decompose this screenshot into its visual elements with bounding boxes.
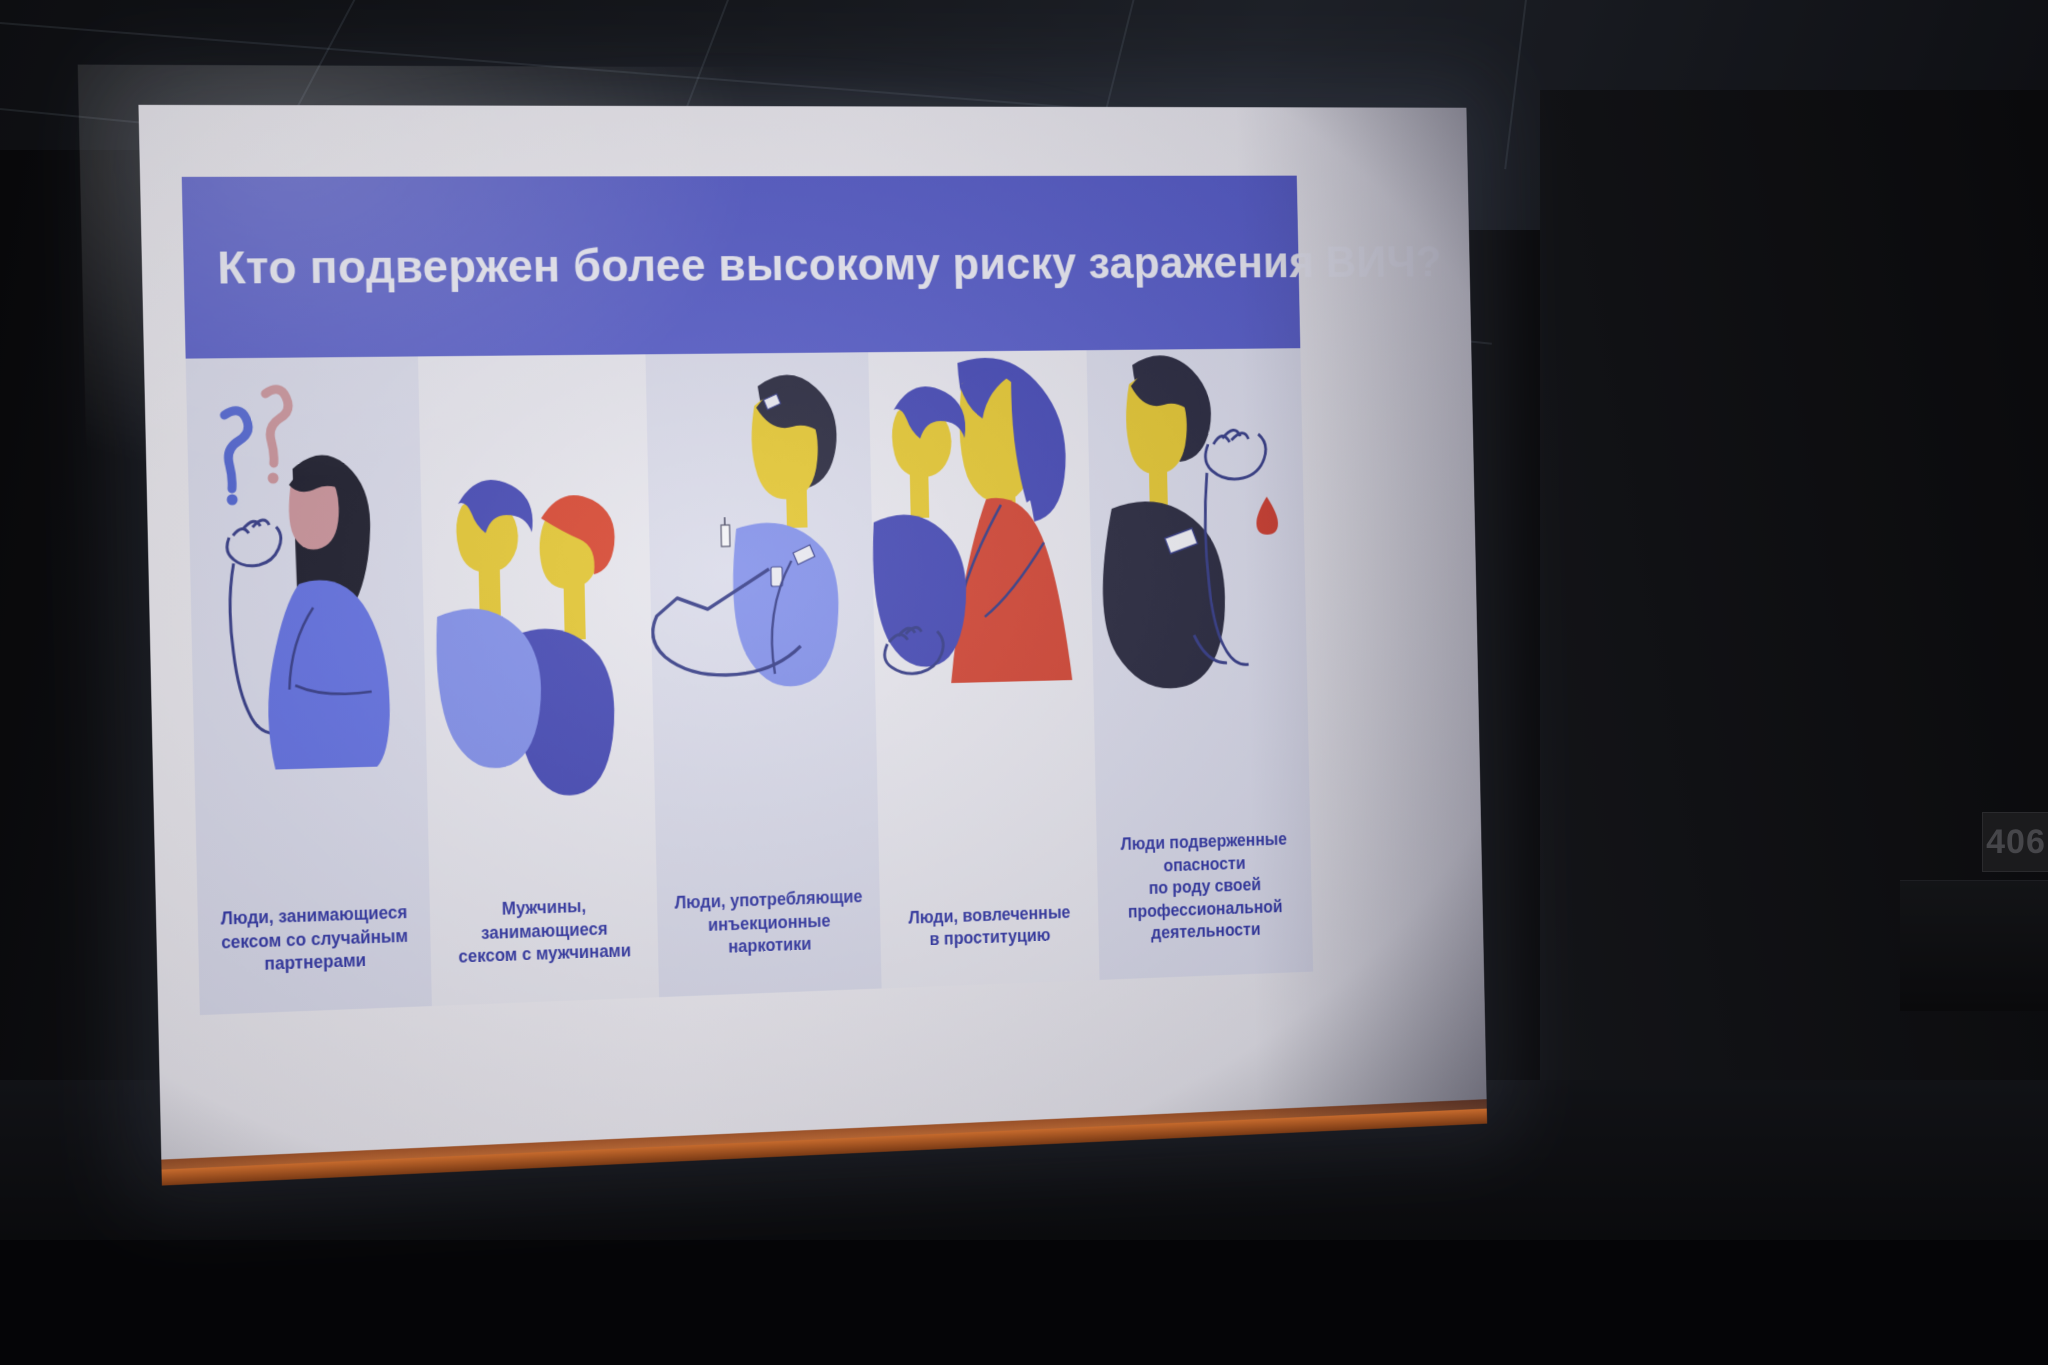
wall-fixture [1900,880,2048,1011]
panel-row: Люди, занимающиеся сексом со случайным п… [186,348,1313,1015]
panel-occupational-exposure: Люди подверженные опасности по роду свое… [1086,348,1313,980]
panel-caption: Люди, вовлеченные в проституцию [884,900,1096,953]
illustration-two-men-pair [418,354,655,800]
illustration-health-worker-with-blood-drop [1086,348,1309,781]
slide-title-bar: Кто подвержен более высокому риску зараж… [182,176,1301,359]
slide-title: Кто подвержен более высокому риску зараж… [183,238,1472,293]
panel-injecting-drug-users: Люди, употребляющие инъекционные наркоти… [645,352,881,997]
panel-caption: Люди, занимающиеся сексом со случайным п… [202,901,428,979]
panel-caption: Мужчины, занимающиеся сексом с мужчинами [434,893,655,970]
panel-casual-partners: Люди, занимающиеся сексом со случайным п… [186,356,432,1015]
projection-screen: Кто подвержен более высокому риску зараж… [138,105,1486,1170]
panel-men-with-men: Мужчины, занимающиеся сексом с мужчинами [418,354,659,1006]
room-number-sign: 406 [1982,812,2048,872]
floor [0,1240,2048,1365]
panel-caption: Люди подверженные опасности по роду свое… [1100,828,1309,948]
illustration-man-and-woman-in-red-dress [868,350,1095,787]
panel-sex-workers: Люди, вовлеченные в проституцию [868,350,1099,988]
illustration-woman-with-question-marks [186,356,428,807]
illustration-person-with-syringe-arm [645,352,877,794]
room-scene: 406 Кто подвержен более высокому риску з… [0,0,2048,1365]
panel-caption: Люди, употребляющие инъекционные наркоти… [661,885,877,962]
slide: Кто подвержен более высокому риску зараж… [182,176,1313,1016]
